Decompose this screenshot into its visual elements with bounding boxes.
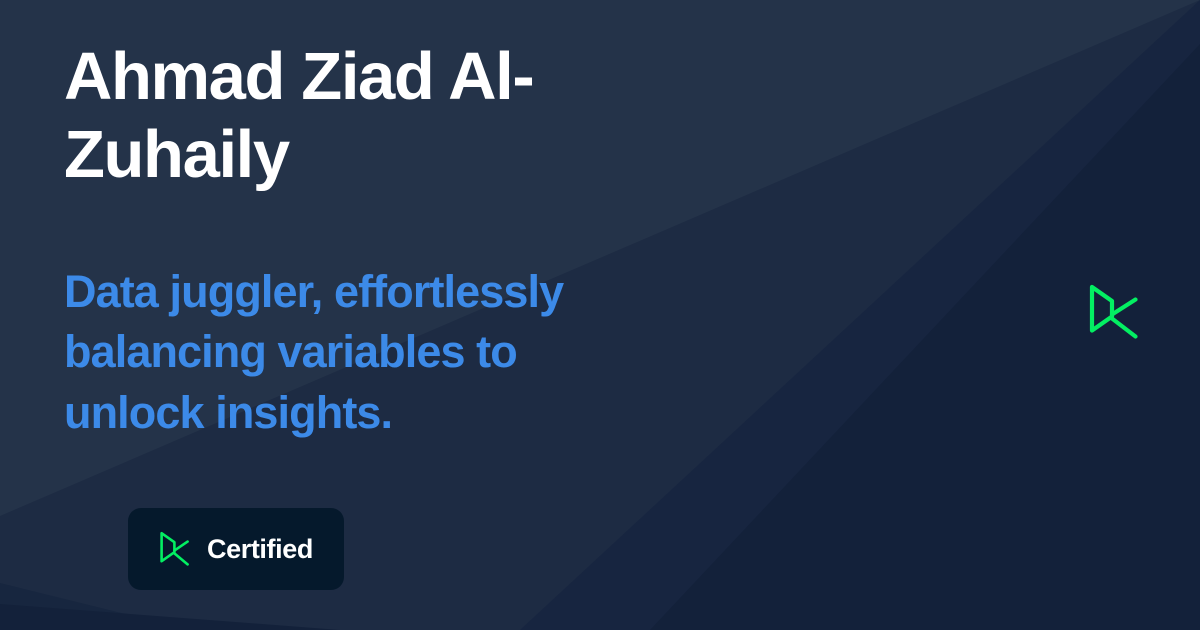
profile-share-card: Ahmad Ziad Al-Zuhaily Data juggler, effo… [0, 0, 1200, 630]
profile-tagline: Data juggler, effortlessly balancing var… [64, 262, 644, 443]
status-badge: Certified [128, 508, 344, 590]
datacamp-logo-icon [159, 531, 190, 568]
page-title: Ahmad Ziad Al-Zuhaily [64, 38, 624, 193]
card-content: Ahmad Ziad Al-Zuhaily Data juggler, effo… [64, 0, 704, 630]
status-badge-label: Certified [207, 534, 313, 565]
datacamp-logo-icon [1088, 283, 1140, 346]
